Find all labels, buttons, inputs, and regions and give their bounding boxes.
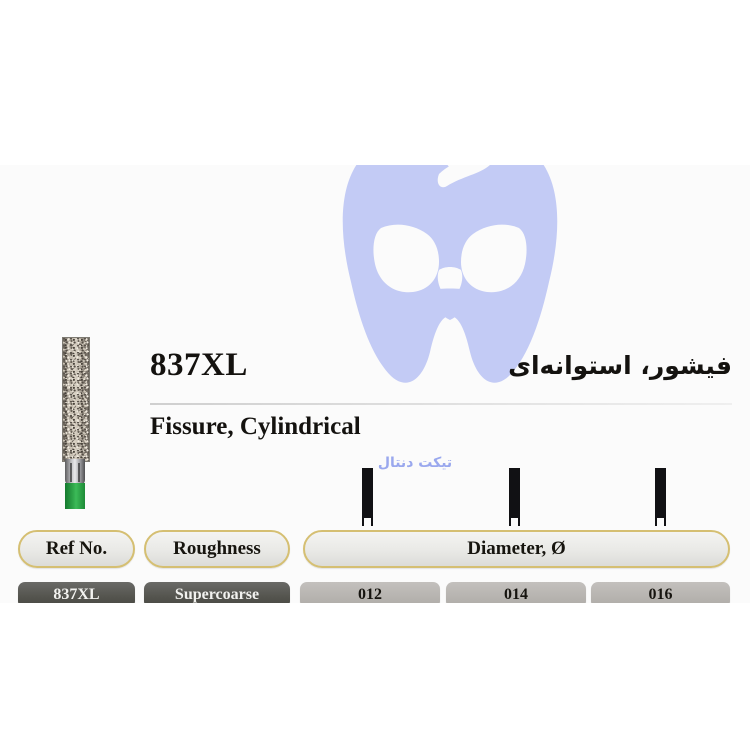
shank-size-marker-icon-2 bbox=[509, 468, 520, 524]
header-diameter: Diameter, Ø bbox=[303, 530, 730, 568]
cell-ref: 837XL bbox=[18, 582, 135, 603]
shank-size-marker-icon-1 bbox=[362, 468, 373, 524]
bur-neck bbox=[65, 459, 85, 485]
diamond-bur-icon bbox=[58, 337, 92, 527]
page-title: 837XL bbox=[150, 347, 248, 384]
bur-color-band bbox=[65, 483, 85, 509]
product-subtitle-english: Fissure, Cylindrical bbox=[150, 413, 361, 441]
cell-diameter-1: 012 bbox=[300, 582, 440, 603]
header-ref-no: Ref No. bbox=[18, 530, 135, 568]
shank-size-marker-icon-3 bbox=[655, 468, 666, 524]
product-title-farsi: فیشور، استوانه‌ای bbox=[508, 351, 732, 380]
product-spec-panel: تیکت دنتال 837XL فیشور، استوانه‌ای Fissu… bbox=[0, 165, 750, 603]
cell-diameter-2: 014 bbox=[446, 582, 586, 603]
product-title-block: 837XL فیشور، استوانه‌ای Fissure, Cylindr… bbox=[150, 343, 732, 453]
cell-roughness: Supercoarse bbox=[144, 582, 290, 603]
bur-head bbox=[62, 337, 90, 462]
cell-diameter-3: 016 bbox=[591, 582, 730, 603]
title-divider bbox=[150, 403, 732, 405]
header-roughness: Roughness bbox=[144, 530, 290, 568]
